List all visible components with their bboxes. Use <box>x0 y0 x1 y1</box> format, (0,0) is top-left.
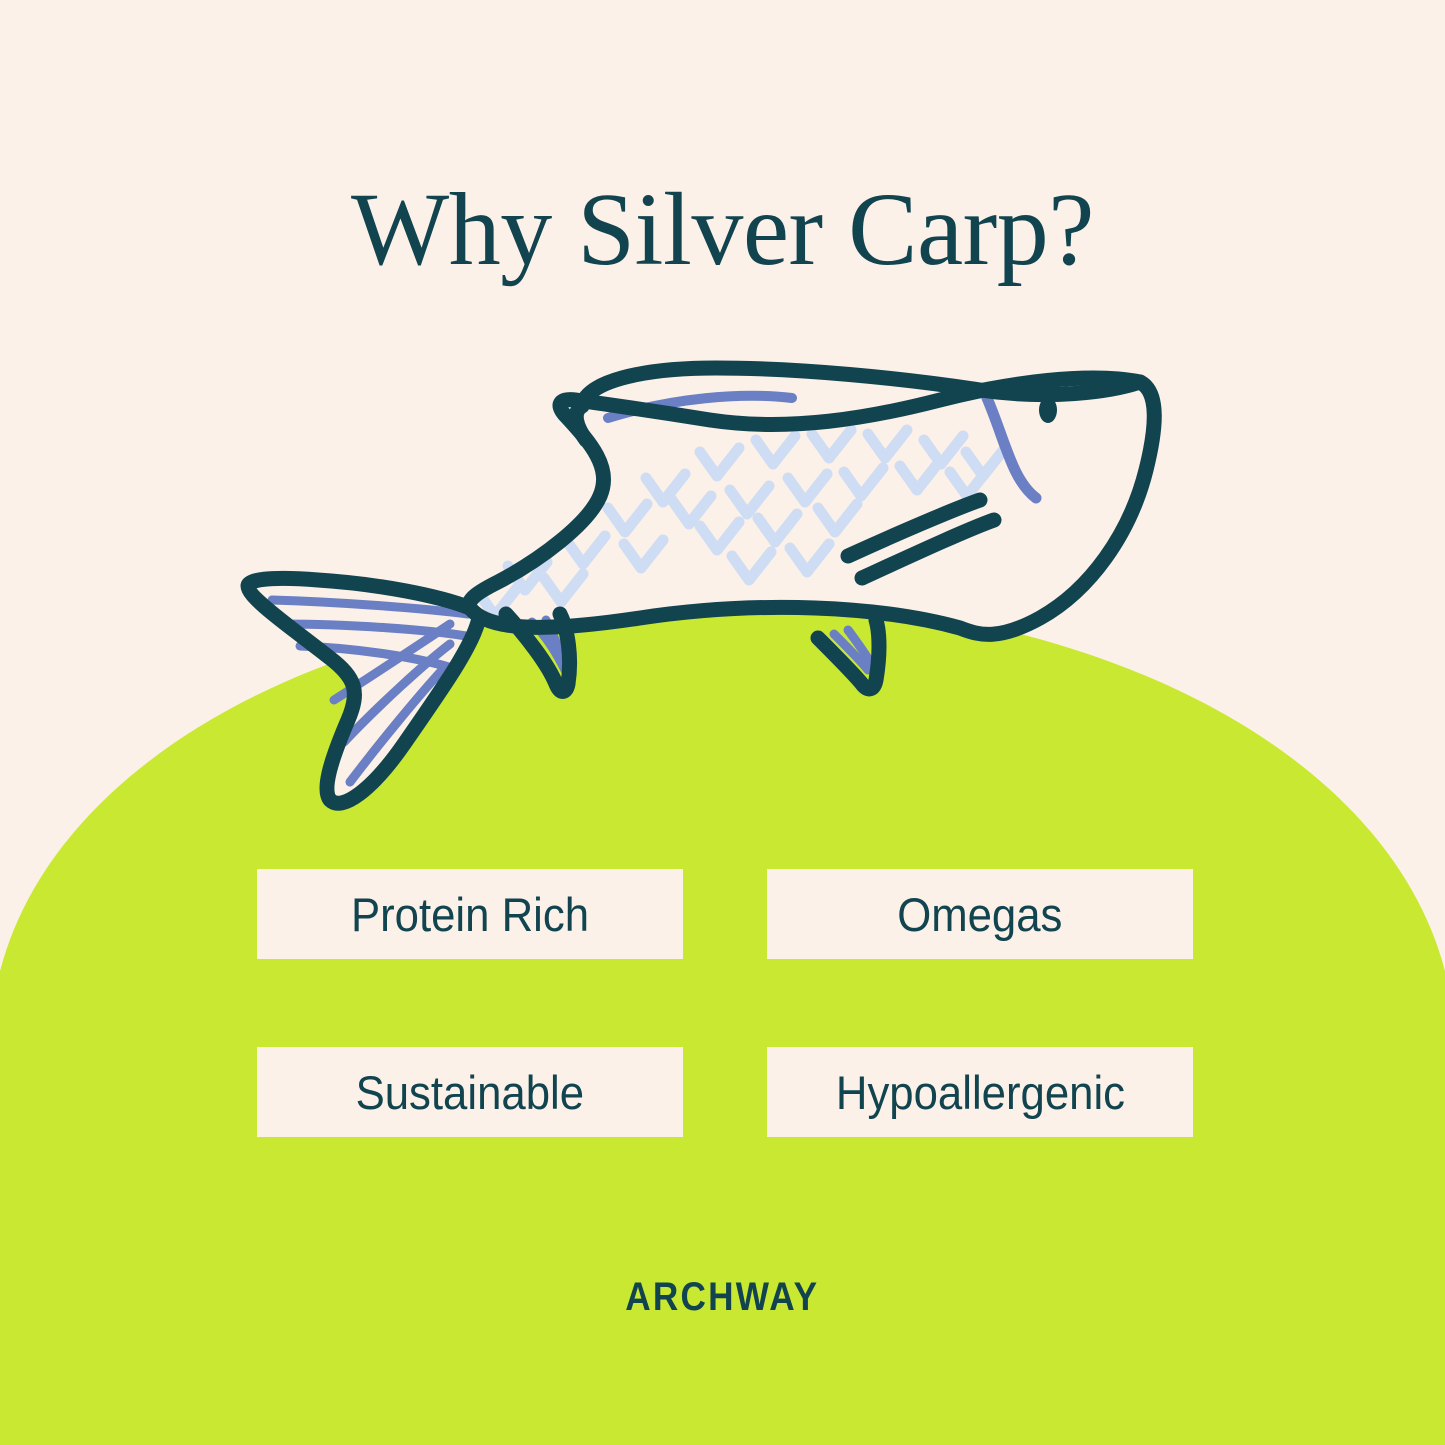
benefit-label: Hypoallergenic <box>835 1065 1124 1120</box>
benefit-label: Protein Rich <box>351 887 589 942</box>
benefit-box-protein-rich[interactable]: Protein Rich <box>257 869 683 959</box>
benefit-box-omegas[interactable]: Omegas <box>767 869 1193 959</box>
benefit-box-hypoallergenic[interactable]: Hypoallergenic <box>767 1047 1193 1137</box>
benefit-label: Omegas <box>897 887 1062 942</box>
brand-wordmark: ARCHWAY <box>625 1275 819 1320</box>
poster-canvas: Why Silver Carp? Protein Rich Omegas Sus… <box>0 0 1445 1445</box>
benefit-box-sustainable[interactable]: Sustainable <box>257 1047 683 1137</box>
page-title: Why Silver Carp? <box>0 173 1445 287</box>
benefit-label: Sustainable <box>356 1065 584 1120</box>
benefits-grid: Protein Rich Omegas Sustainable Hypoalle… <box>257 869 1193 1137</box>
brand-logo: ARCHWAY <box>0 1275 1445 1320</box>
